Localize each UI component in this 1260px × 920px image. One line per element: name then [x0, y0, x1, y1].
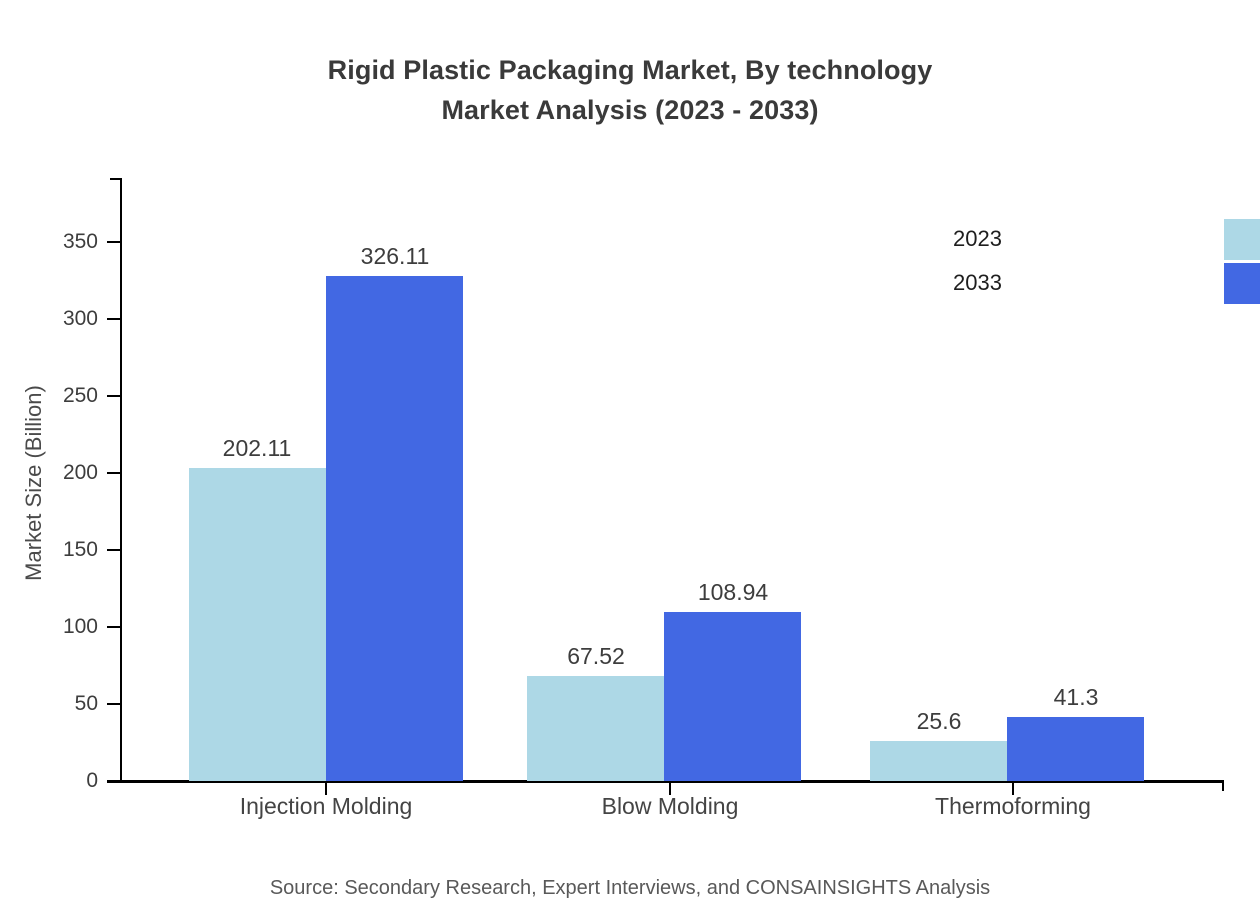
x-axis-end-cap — [1222, 780, 1224, 791]
y-tick-300 — [107, 318, 120, 320]
bar-2033-blow-molding[interactable] — [664, 612, 801, 781]
y-tick-200 — [107, 472, 120, 474]
bar-value-2023-injection-molding: 202.11 — [223, 435, 292, 462]
bar-2023-blow-molding[interactable] — [527, 676, 664, 781]
bar-2023-injection-molding[interactable] — [189, 468, 326, 781]
y-tick-label-0: 0 — [86, 769, 98, 793]
bar-value-2033-blow-molding: 108.94 — [698, 579, 768, 606]
legend-swatch-2033 — [1224, 263, 1260, 304]
bar-2023-thermoforming[interactable] — [870, 741, 1007, 781]
chart-title-line-2: Market Analysis (2023 - 2033) — [0, 90, 1260, 130]
y-tick-100 — [107, 626, 120, 628]
y-tick-label-350: 350 — [63, 230, 98, 254]
legend-label-2023: 2023 — [953, 226, 1002, 252]
chart-title-line-1: Rigid Plastic Packaging Market, By techn… — [0, 50, 1260, 90]
y-tick-label-200: 200 — [63, 461, 98, 485]
y-tick-label-150: 150 — [63, 538, 98, 562]
chart-title: Rigid Plastic Packaging Market, By techn… — [0, 50, 1260, 130]
bar-2033-injection-molding[interactable] — [326, 276, 463, 781]
plot-area: 202.11 326.11 67.52 108.94 25.6 41.3 — [120, 178, 1224, 781]
y-tick-50 — [107, 703, 120, 705]
bar-value-2033-thermoforming: 41.3 — [1054, 684, 1099, 711]
y-tick-150 — [107, 549, 120, 551]
x-axis-label-injection-molding: Injection Molding — [240, 793, 413, 820]
bar-chart-figure: Rigid Plastic Packaging Market, By techn… — [0, 0, 1260, 920]
legend-swatch-2023 — [1224, 219, 1260, 260]
y-tick-label-300: 300 — [63, 307, 98, 331]
y-tick-0 — [107, 780, 120, 782]
bar-value-2033-injection-molding: 326.11 — [361, 243, 430, 270]
y-tick-350 — [107, 241, 120, 243]
y-tick-label-50: 50 — [75, 692, 98, 716]
bar-2033-thermoforming[interactable] — [1007, 717, 1144, 781]
legend-label-2033: 2033 — [953, 270, 1002, 296]
bar-value-2023-thermoforming: 25.6 — [917, 708, 962, 735]
source-note: Source: Secondary Research, Expert Inter… — [0, 877, 1260, 900]
x-axis-label-blow-molding: Blow Molding — [602, 793, 739, 820]
x-axis-label-thermoforming: Thermoforming — [935, 793, 1091, 820]
y-tick-label-250: 250 — [63, 384, 98, 408]
bar-value-2023-blow-molding: 67.52 — [567, 643, 625, 670]
y-axis-title: Market Size (Billion) — [21, 333, 47, 633]
y-tick-label-100: 100 — [63, 615, 98, 639]
y-tick-250 — [107, 395, 120, 397]
